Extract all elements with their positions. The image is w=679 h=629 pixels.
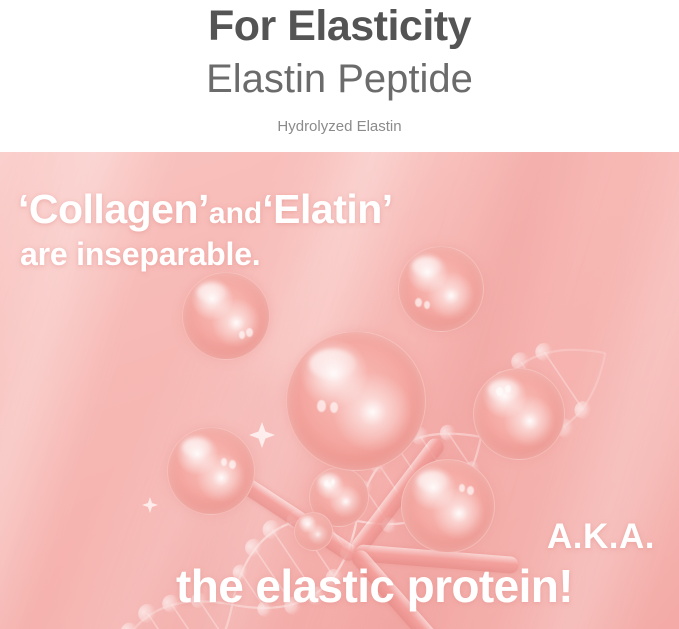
page-title: For Elasticity <box>0 2 679 50</box>
product-infographic: For Elasticity Elastin Peptide Hydrolyze… <box>0 0 679 629</box>
bubble-upper-right <box>398 246 484 332</box>
bubble-speck <box>330 402 338 413</box>
bubble-speck <box>415 298 422 307</box>
headline-elatin: ‘Elatin’ <box>262 186 392 232</box>
banner-tagline: the elastic protein! <box>176 559 573 613</box>
bubble-speck <box>317 400 326 412</box>
bubble-right <box>473 368 565 460</box>
bubble-speck <box>239 331 245 339</box>
bubble-speck <box>246 328 253 337</box>
header-section: For Elasticity Elastin Peptide Hydrolyze… <box>0 0 679 152</box>
bubble-speck <box>424 301 430 309</box>
bubble-lower-left <box>167 427 255 515</box>
banner-headline-line1: ‘Collagen’and‘Elatin’ <box>18 185 393 238</box>
hero-banner: ‘Collagen’and‘Elatin’ are inseparable. A… <box>0 152 679 629</box>
headline-collagen: ‘Collagen’ <box>18 186 209 232</box>
bubble-speck <box>505 385 511 393</box>
bubble-speck <box>221 458 227 466</box>
bubble-speck <box>229 460 236 469</box>
bubble-speck <box>459 484 465 492</box>
ingredient-caption: Hydrolyzed Elastin <box>0 117 679 137</box>
bubble-speck <box>467 486 474 495</box>
page-subtitle: Elastin Peptide <box>0 56 679 102</box>
bubble-speck <box>331 479 335 485</box>
bubble-upper-left <box>182 272 270 360</box>
banner-headline-line2: are inseparable. <box>20 235 261 273</box>
bubble-center-large <box>286 331 426 471</box>
headline-conjunction: and <box>209 197 262 230</box>
aka-label: A.K.A. <box>0 517 655 557</box>
bubble-speck <box>496 387 503 396</box>
bubble-speck <box>324 480 329 487</box>
